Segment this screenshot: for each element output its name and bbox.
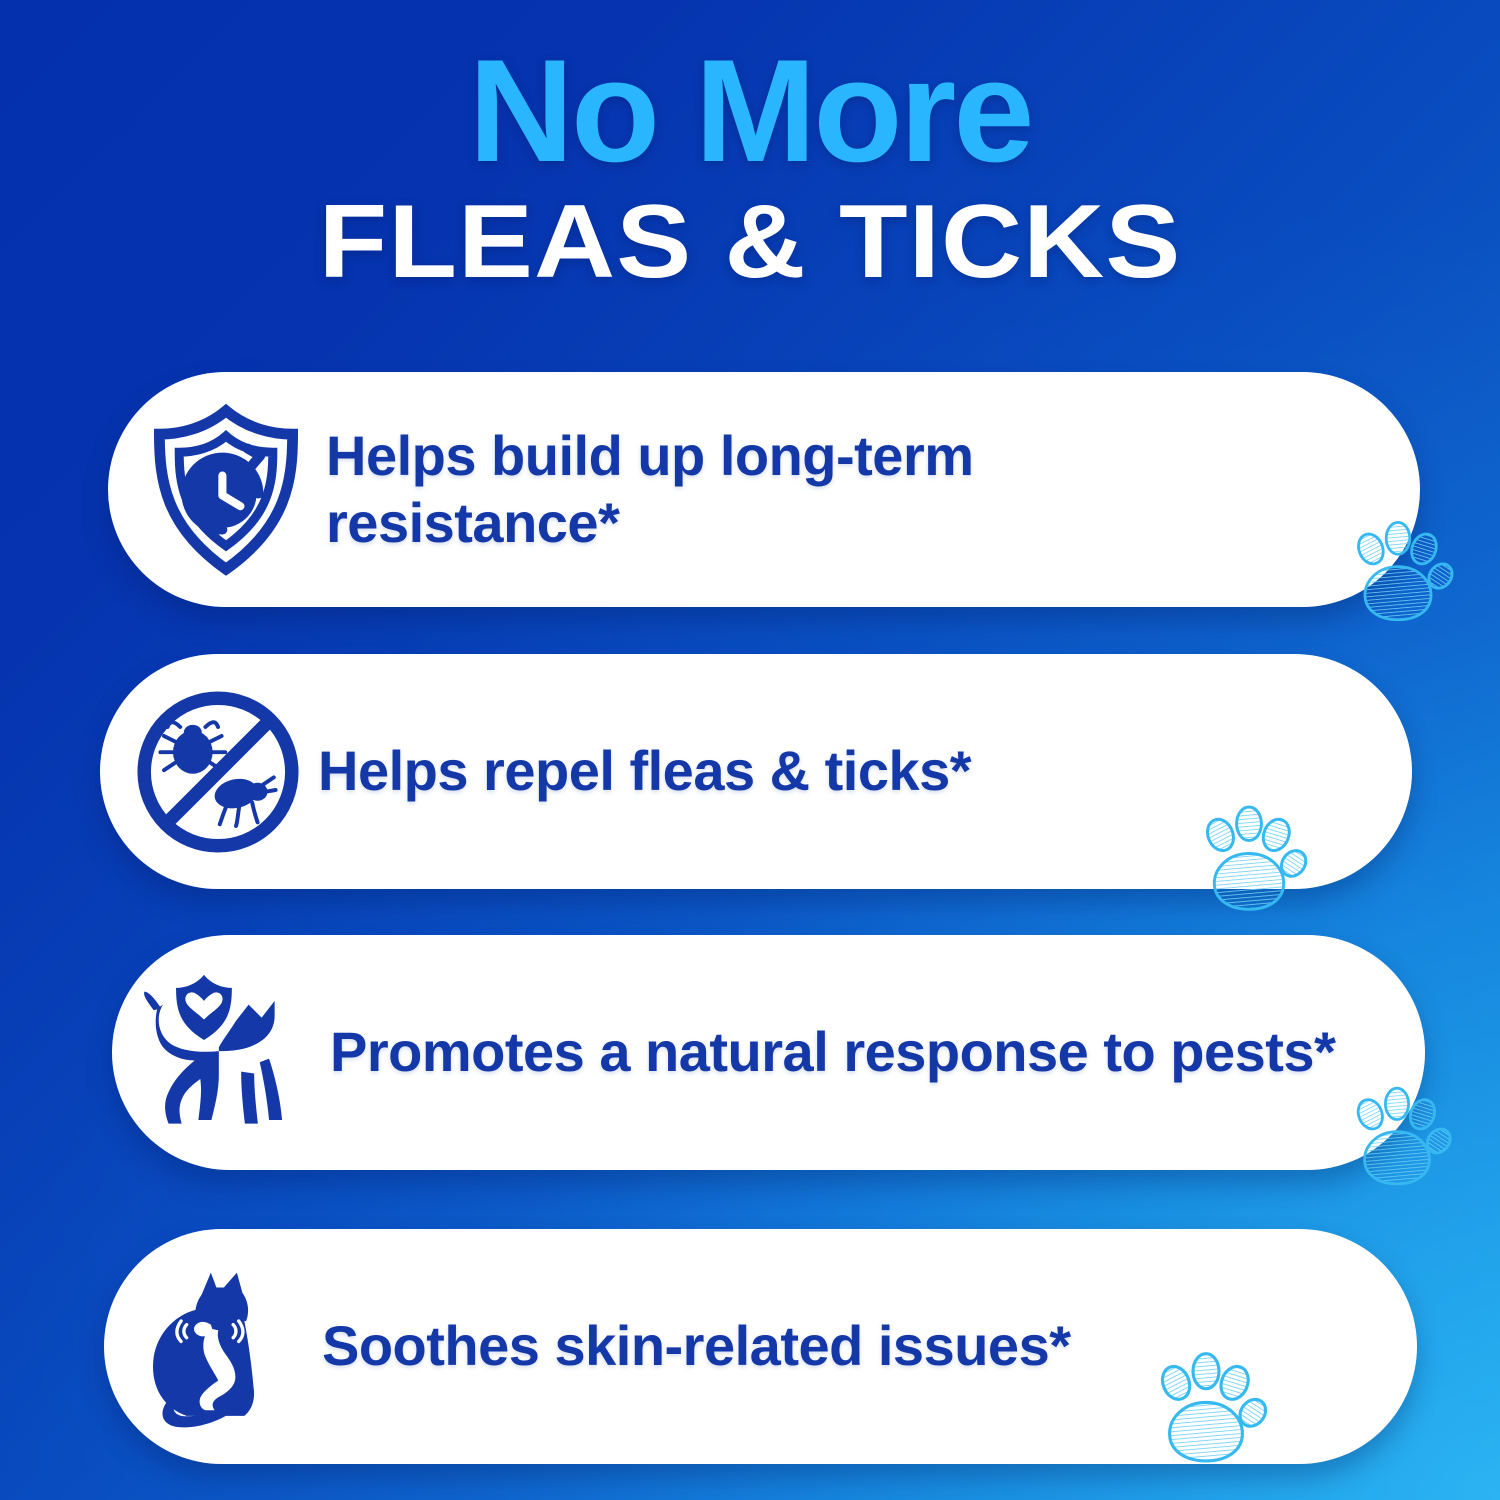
headline-line-2: FLEAS & TICKS xyxy=(0,189,1500,295)
cat-scratching-icon xyxy=(122,1247,322,1447)
benefit-text: Helps repel fleas & ticks* xyxy=(318,738,1011,804)
promo-poster: No More FLEAS & TICKS Helps build up lon… xyxy=(0,0,1500,1500)
benefit-card: Helps build up long-term resistance* xyxy=(108,372,1420,607)
benefit-card: Promotes a natural response to pests* xyxy=(112,935,1425,1170)
benefit-card: Helps repel fleas & ticks* xyxy=(100,654,1412,889)
benefit-text: Soothes skin-related issues* xyxy=(322,1313,1111,1379)
benefit-text: Promotes a natural response to pests* xyxy=(330,1019,1375,1085)
shield-clock-icon xyxy=(126,390,326,590)
headline-block: No More FLEAS & TICKS xyxy=(0,42,1500,295)
no-fleas-ticks-icon xyxy=(118,672,318,872)
cat-shield-heart-icon xyxy=(130,953,330,1153)
headline-line-1: No More xyxy=(0,42,1500,179)
benefit-text: Helps build up long-term resistance* xyxy=(326,423,1306,555)
benefit-card: Soothes skin-related issues* xyxy=(104,1229,1417,1464)
